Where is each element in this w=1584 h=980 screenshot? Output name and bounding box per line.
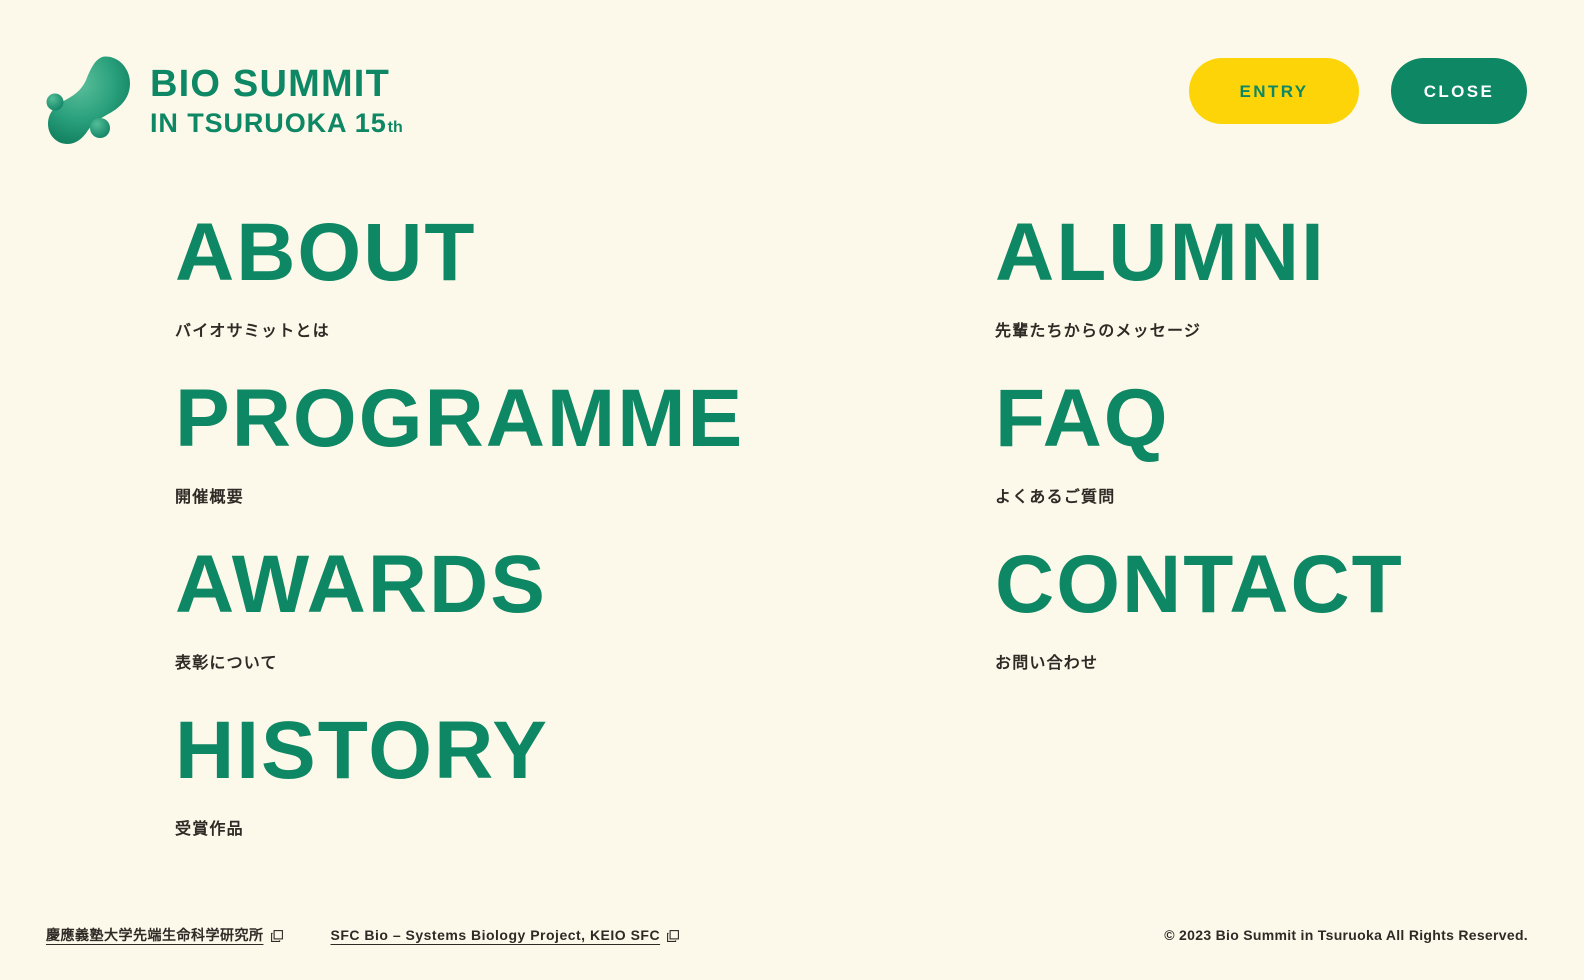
bio-molecule-blob-logo-icon [42, 48, 134, 153]
brand-name-line1: BIO SUMMIT [150, 65, 403, 103]
brand-logo-link[interactable]: BIO SUMMIT IN TSURUOKA 15th [42, 48, 403, 153]
close-menu-button[interactable]: CLOSE [1391, 58, 1527, 124]
nav-subtitle: バイオサミットとは [175, 317, 995, 341]
nav-item-history[interactable]: HISTORY 受賞作品 [175, 688, 995, 839]
nav-subtitle: よくあるご質問 [995, 483, 1495, 507]
brand-wordmark: BIO SUMMIT IN TSURUOKA 15th [150, 65, 403, 137]
footer-link-iab[interactable]: 慶應義塾大学先端生命科学研究所 [46, 925, 283, 945]
entry-button[interactable]: ENTRY [1189, 58, 1359, 124]
nav-title: PROGRAMME [175, 356, 995, 460]
nav-title: FAQ [995, 356, 1495, 460]
brand-ordinal-suffix: th [388, 120, 403, 136]
nav-subtitle: 開催概要 [175, 483, 995, 507]
nav-title: ABOUT [175, 190, 995, 294]
footer-link-sfc-bio[interactable]: SFC Bio – Systems Biology Project, KEIO … [331, 927, 680, 943]
footer-link-label: SFC Bio – Systems Biology Project, KEIO … [331, 927, 661, 943]
nav-item-programme[interactable]: PROGRAMME 開催概要 [175, 356, 995, 507]
nav-subtitle: 受賞作品 [175, 815, 995, 839]
external-link-icon [667, 929, 679, 941]
brand-location-edition: IN TSURUOKA 15 [150, 110, 387, 137]
nav-item-about[interactable]: ABOUT バイオサミットとは [175, 190, 995, 341]
nav-subtitle: 先輩たちからのメッセージ [995, 317, 1495, 341]
nav-item-contact[interactable]: CONTACT お問い合わせ [995, 522, 1495, 673]
footer-links: 慶應義塾大学先端生命科学研究所 SFC Bio – Systems Biolog… [46, 925, 679, 945]
nav-title: AWARDS [175, 522, 995, 626]
nav-title: HISTORY [175, 688, 995, 792]
nav-title: ALUMNI [995, 190, 1495, 294]
brand-name-line2: IN TSURUOKA 15th [150, 110, 403, 137]
footer-link-label: 慶應義塾大学先端生命科学研究所 [46, 925, 264, 945]
nav-title: CONTACT [995, 522, 1495, 626]
header-actions: ENTRY CLOSE [1189, 58, 1527, 124]
nav-item-faq[interactable]: FAQ よくあるご質問 [995, 356, 1495, 507]
nav-subtitle: 表彰について [175, 649, 995, 673]
external-link-icon [271, 929, 283, 941]
nav-item-alumni[interactable]: ALUMNI 先輩たちからのメッセージ [995, 190, 1495, 341]
nav-subtitle: お問い合わせ [995, 649, 1495, 673]
copyright-text: © 2023 Bio Summit in Tsuruoka All Rights… [1164, 927, 1528, 943]
main-menu-nav: ABOUT バイオサミットとは ALUMNI 先輩たちからのメッセージ PROG… [175, 190, 1495, 854]
site-header: BIO SUMMIT IN TSURUOKA 15th ENTRY CLOSE [0, 0, 1584, 185]
nav-item-awards[interactable]: AWARDS 表彰について [175, 522, 995, 673]
site-footer: 慶應義塾大学先端生命科学研究所 SFC Bio – Systems Biolog… [0, 890, 1584, 980]
